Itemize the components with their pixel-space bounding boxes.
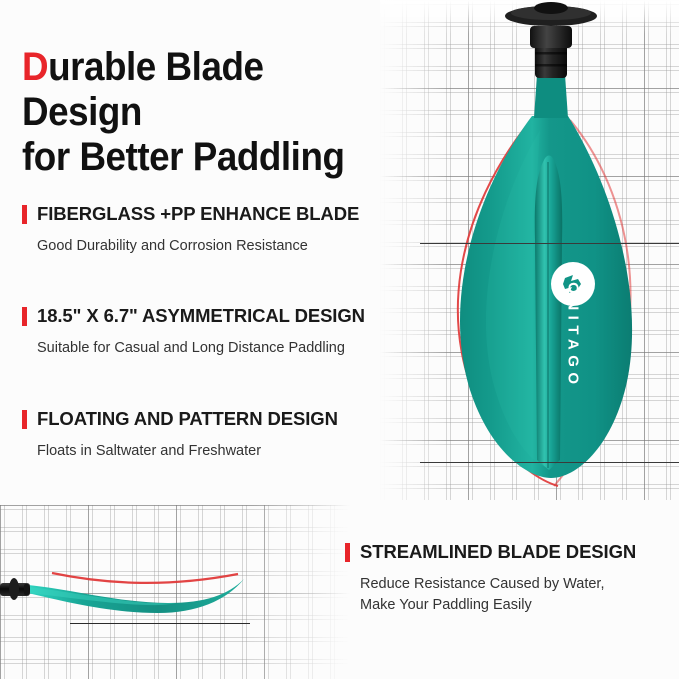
paddle-blade-front-view bbox=[418, 0, 679, 500]
brand-name: WONITAGO bbox=[565, 263, 582, 383]
title-line-2: for Better Paddling bbox=[22, 135, 344, 179]
feature-subtitle: Reduce Resistance Caused by Water, Make … bbox=[360, 574, 675, 616]
shaft-collar bbox=[530, 26, 572, 48]
feature-header: 18.5" X 6.7" ASYMMETRICAL DESIGN bbox=[22, 305, 422, 327]
feature-subtitle: Good Durability and Corrosion Resistance bbox=[37, 236, 422, 257]
feature-title: 18.5" X 6.7" ASYMMETRICAL DESIGN bbox=[37, 305, 365, 327]
feature-subtitle: Floats in Saltwater and Freshwater bbox=[37, 441, 422, 462]
feature-item-floating: FLOATING AND PATTERN DESIGN Floats in Sa… bbox=[22, 408, 422, 462]
shaft-rib-2 bbox=[535, 64, 567, 67]
profile-shaft-collar bbox=[24, 584, 29, 595]
title-accent-letter: D bbox=[22, 45, 48, 89]
shaft-rib-1 bbox=[535, 52, 567, 55]
bullet-bar-icon bbox=[22, 205, 27, 224]
profile-reference-arc-red bbox=[52, 573, 238, 583]
profile-shaft-flange bbox=[9, 578, 19, 600]
shaft-cap bbox=[534, 2, 568, 14]
feature-item-streamlined: STREAMLINED BLADE DESIGN Reduce Resistan… bbox=[345, 541, 675, 616]
bullet-bar-icon bbox=[345, 543, 350, 562]
paddle-blade-profile-view bbox=[0, 543, 300, 653]
feature-header: FIBERGLASS +PP ENHANCE BLADE bbox=[22, 203, 422, 225]
feature-subtitle: Suitable for Casual and Long Distance Pa… bbox=[37, 338, 422, 359]
feature-item-asymmetrical: 18.5" X 6.7" ASYMMETRICAL DESIGN Suitabl… bbox=[22, 305, 422, 359]
feature-title: FIBERGLASS +PP ENHANCE BLADE bbox=[37, 203, 359, 225]
feature-header: FLOATING AND PATTERN DESIGN bbox=[22, 408, 422, 430]
paddle-shaft bbox=[535, 44, 567, 78]
bullet-bar-icon bbox=[22, 410, 27, 429]
title-line-1: urable Blade Design bbox=[22, 45, 263, 134]
bullet-bar-icon bbox=[22, 307, 27, 326]
feature-header: STREAMLINED BLADE DESIGN bbox=[345, 541, 675, 563]
feature-item-fiberglass: FIBERGLASS +PP ENHANCE BLADE Good Durabi… bbox=[22, 203, 422, 257]
feature-title: FLOATING AND PATTERN DESIGN bbox=[37, 408, 338, 430]
feature-title: STREAMLINED BLADE DESIGN bbox=[360, 541, 636, 563]
page-title: Durable Blade Design for Better Paddling bbox=[22, 45, 390, 179]
product-infographic: Durable Blade Design for Better Paddling… bbox=[0, 0, 679, 679]
